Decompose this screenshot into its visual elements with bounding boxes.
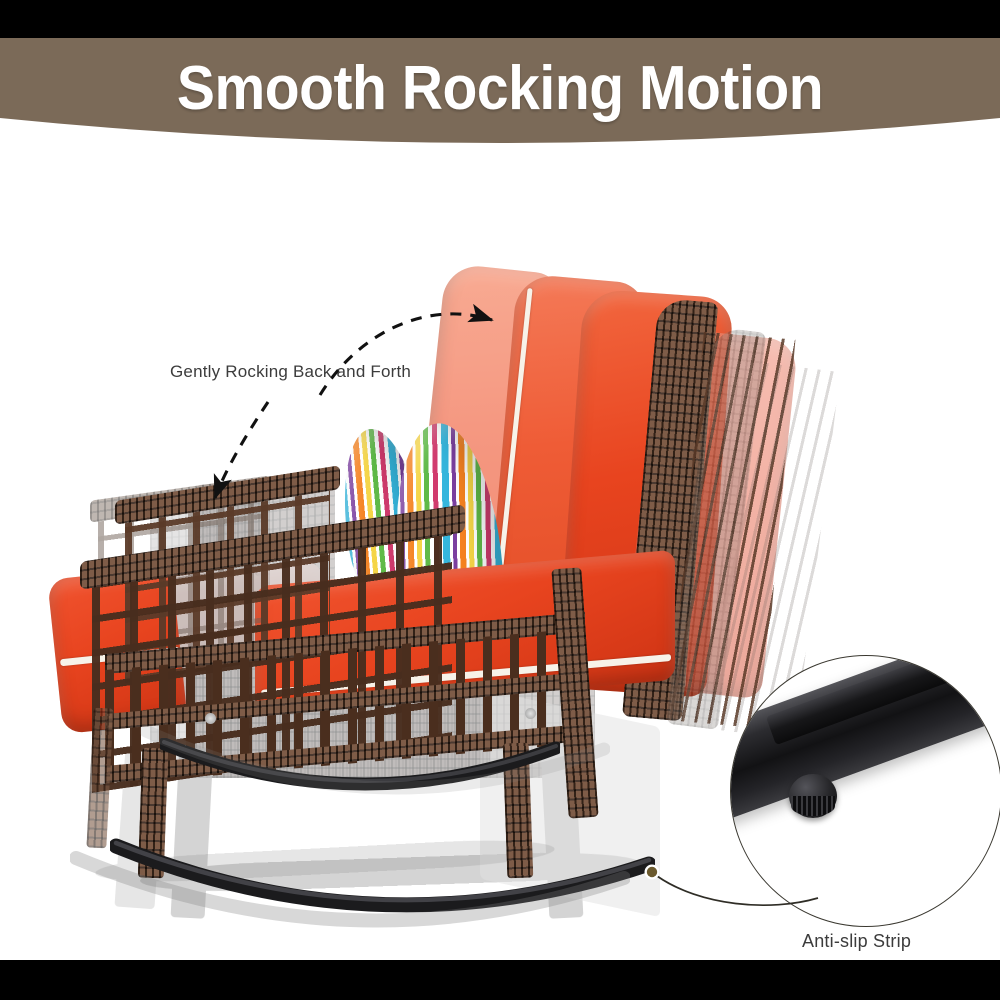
header-banner: Smooth Rocking Motion [0, 38, 1000, 148]
rocking-motion-label: Gently Rocking Back and Forth [170, 362, 411, 382]
rocker-runner-ghost-far [140, 723, 610, 823]
letterbox-top [0, 0, 1000, 38]
anti-slip-label: Anti-slip Strip [802, 931, 911, 952]
adjustment-knob [789, 774, 837, 818]
letterbox-bottom [0, 960, 1000, 1000]
screw-right [525, 708, 536, 719]
rocker-runner-ghost [70, 848, 630, 958]
product-marketing-image: Smooth Rocking Motion Gently R [0, 0, 1000, 1000]
anti-slip-detail-circle [730, 655, 1000, 927]
screw-left [205, 713, 216, 724]
